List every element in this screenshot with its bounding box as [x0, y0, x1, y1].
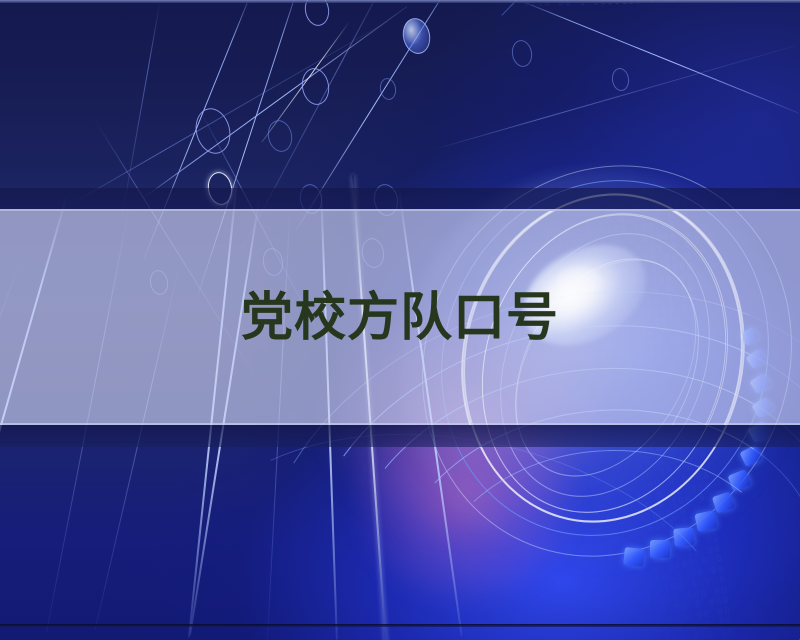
frame-bottom-edge	[0, 624, 800, 627]
frame-top-edge	[0, 0, 800, 3]
band-dark-lower	[0, 425, 800, 447]
hero-banner: 0 0110 00 1 0000100 0 00 00 0 0100 000 0…	[0, 0, 800, 640]
page-title: 党校方队口号	[0, 286, 800, 350]
band-dark-upper	[0, 188, 800, 211]
